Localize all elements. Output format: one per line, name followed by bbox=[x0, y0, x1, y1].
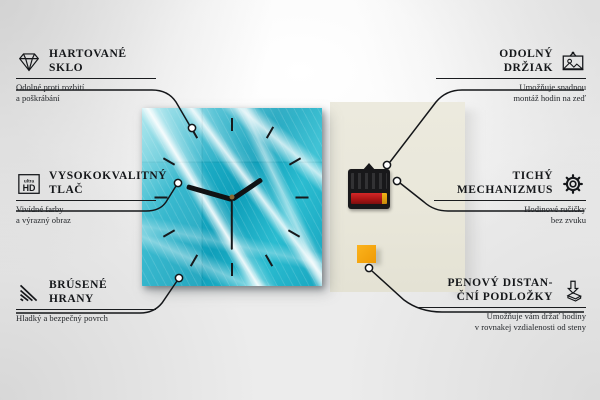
feature-description: Vivídné farby a výrazný obraz bbox=[16, 204, 156, 225]
battery bbox=[351, 193, 385, 204]
product-infographic: HARTOVANÉ SKLO Odolné proti rozbití a po… bbox=[0, 0, 600, 400]
feature-title: PENOVÝ DISTAN- ČNÍ PODLOŽKY bbox=[447, 277, 553, 304]
feature-divider bbox=[434, 200, 586, 201]
hour-tick bbox=[296, 197, 309, 199]
feature-title: TICHÝ MECHANIZMUS bbox=[457, 170, 553, 197]
clock-face bbox=[142, 108, 322, 286]
feature-header: ODOLNÝ DRŽIAK bbox=[436, 48, 586, 75]
feature-header: PENOVÝ DISTAN- ČNÍ PODLOŽKY bbox=[418, 277, 586, 304]
feature-divider bbox=[436, 78, 586, 79]
gear-icon bbox=[560, 173, 586, 195]
feature-header: TICHÝ MECHANIZMUS bbox=[434, 170, 586, 197]
feature-divider bbox=[16, 200, 156, 201]
feature-divider bbox=[16, 309, 156, 310]
hour-tick bbox=[231, 118, 233, 131]
feature-description: Odolné proti rozbití a poškrábání bbox=[16, 82, 156, 103]
mechanism-label bbox=[351, 173, 387, 189]
feature-foam-spacers: PENOVÝ DISTAN- ČNÍ PODLOŽKY Umožňuje vám… bbox=[418, 277, 586, 333]
feature-hd-print: ultra HD VYSOKOKVALITNÝ TLAČ Vivídné far… bbox=[16, 170, 156, 226]
feature-tempered-glass: HARTOVANÉ SKLO Odolné proti rozbití a po… bbox=[16, 48, 156, 104]
battery-terminal bbox=[382, 193, 387, 204]
feature-title: HARTOVANÉ SKLO bbox=[49, 48, 127, 75]
product-photo bbox=[135, 100, 465, 295]
foam-spacer bbox=[357, 245, 376, 263]
feature-title: ODOLNÝ DRŽIAK bbox=[499, 48, 553, 75]
second-hand bbox=[231, 198, 233, 250]
wall-mount-icon bbox=[560, 51, 586, 73]
feature-wall-mount: ODOLNÝ DRŽIAK Umožňuje snadnou montáž ho… bbox=[436, 48, 586, 104]
feature-description: Hodinové ručičky bez zvuku bbox=[434, 204, 586, 225]
feature-title: BRÚSENÉ HRANY bbox=[49, 279, 107, 306]
foam-pad-icon bbox=[560, 280, 586, 302]
hour-tick bbox=[231, 263, 233, 276]
feature-divider bbox=[418, 307, 586, 308]
feature-description: Umožňuje snadnou montáž hodin na zeď bbox=[436, 82, 586, 103]
feature-description: Umožňuje vám držať hodiny v rovnakej vzd… bbox=[418, 311, 586, 332]
feature-header: HARTOVANÉ SKLO bbox=[16, 48, 156, 75]
feature-header: ultra HD VYSOKOKVALITNÝ TLAČ bbox=[16, 170, 156, 197]
svg-text:HD: HD bbox=[23, 182, 36, 192]
feature-title: VYSOKOKVALITNÝ TLAČ bbox=[49, 170, 167, 197]
feature-header: BRÚSENÉ HRANY bbox=[16, 279, 156, 306]
clock-mechanism bbox=[348, 169, 390, 209]
hand-hub bbox=[230, 195, 235, 200]
feature-polished-edges: BRÚSENÉ HRANY Hladký a bezpečný povrch bbox=[16, 279, 156, 324]
ultra-hd-icon: ultra HD bbox=[16, 173, 42, 195]
feature-divider bbox=[16, 78, 156, 79]
feature-description: Hladký a bezpečný povrch bbox=[16, 313, 156, 324]
feature-silent-mechanism: TICHÝ MECHANIZMUS Hodinové ručičky bbox=[434, 170, 586, 226]
polished-edges-icon bbox=[16, 282, 42, 304]
diamond-icon bbox=[16, 51, 42, 73]
